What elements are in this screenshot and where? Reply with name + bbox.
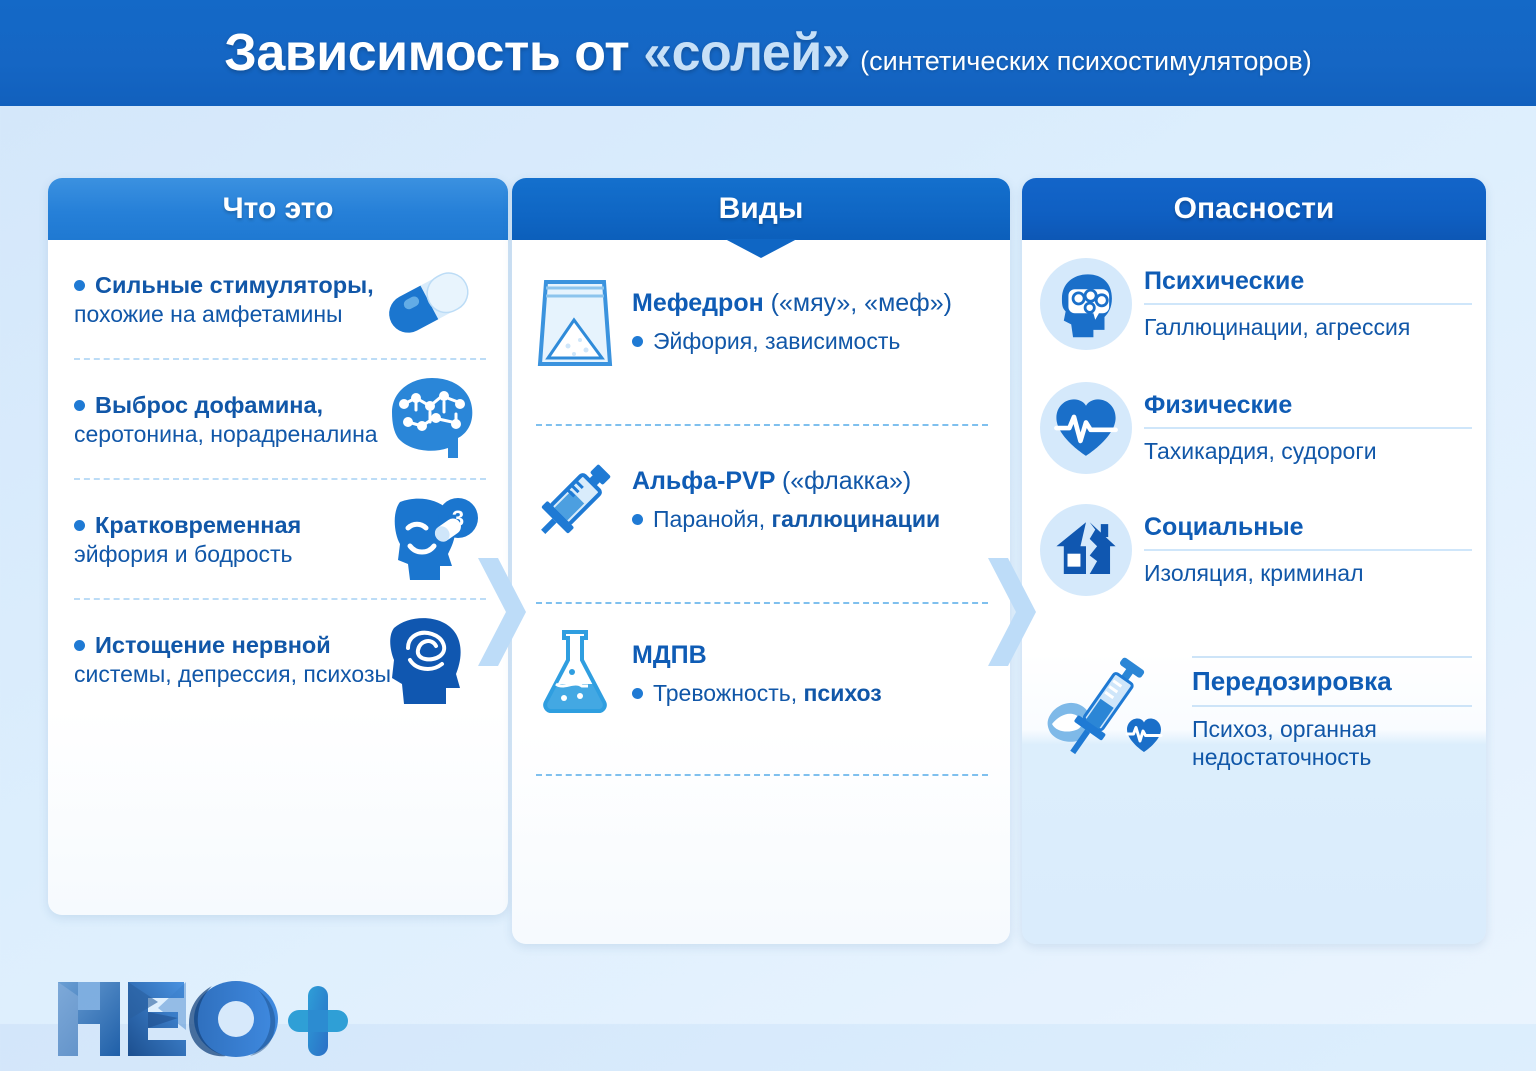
- page-title-subtitle: (синтетических психостимуляторов): [860, 46, 1312, 77]
- type-effect-plain: Эйфория, зависимость: [653, 328, 900, 354]
- syringe-powder-icon: [1032, 650, 1182, 770]
- type-effects: Тревожность, психоз: [632, 680, 882, 708]
- type-alias: («флакка»): [782, 467, 911, 495]
- bullet-dot-icon: [632, 688, 643, 699]
- type-effect-bold: галлюцинации: [771, 506, 940, 532]
- page-title-quoted: «солей»: [643, 23, 850, 83]
- divider: [1192, 656, 1472, 658]
- list-item[interactable]: Психические Галлюцинации, агрессия: [1022, 240, 1486, 360]
- brain-network-icon: [364, 364, 492, 476]
- type-name-row: Альфа-PVP («флакка»): [632, 466, 940, 496]
- neo-plus-logo[interactable]: [52, 972, 352, 1066]
- flow-arrow-what-to-types: [478, 552, 534, 672]
- column-what-is-it: Что это Сильные стимуляторы, похожие на …: [48, 178, 508, 915]
- column-types: Виды Мефедрон («мяу», «меф»): [512, 178, 1010, 944]
- overdose-block[interactable]: Передозировка Психоз, органная недостато…: [1022, 630, 1486, 791]
- overdose-text: Передозировка Психоз, органная недостато…: [1192, 648, 1472, 771]
- bullet-dot-icon: [74, 400, 85, 411]
- bullet-line-primary: Кратковременная: [74, 510, 301, 540]
- bullet-line-primary: Сильные стимуляторы,: [74, 270, 374, 300]
- danger-title: Социальные: [1144, 513, 1472, 542]
- overdose-sub: Психоз, органная недостаточность: [1192, 715, 1472, 771]
- divider: [1192, 705, 1472, 707]
- list-item-text: Сильные стимуляторы, похожие на амфетами…: [74, 270, 374, 330]
- list-item-text: Физические Тахикардия, судороги: [1144, 391, 1472, 465]
- column-dangers: Опасности Психические Галлюц: [1022, 178, 1486, 944]
- column-types-body: Мефедрон («мяу», «меф») Эйфория, зависим…: [512, 240, 1010, 944]
- type-alias: («мяу», «меф»): [771, 289, 952, 317]
- list-item[interactable]: МДПВ Тревожность, психоз: [512, 604, 1010, 776]
- overdose-title: Передозировка: [1192, 666, 1472, 697]
- list-item[interactable]: Мефедрон («мяу», «меф») Эйфория, зависим…: [512, 240, 1010, 426]
- list-item-text: Кратковременная эйфория и бодрость: [74, 510, 301, 570]
- bullet-line-primary: Выброс дофамина,: [74, 390, 378, 420]
- overdose-icons: [1032, 650, 1182, 770]
- overdose-sub-line2: недостаточность: [1192, 744, 1371, 770]
- list-item-text: Альфа-PVP («флакка») Паранойя, галлюцина…: [632, 452, 940, 534]
- flow-arrow-types-to-dangers: [988, 552, 1044, 672]
- divider: [1144, 303, 1472, 305]
- list-item-text: Истощение нервной системы, депрессия, пс…: [74, 630, 391, 690]
- danger-title: Физические: [1144, 391, 1472, 420]
- syringe-icon: [532, 452, 618, 548]
- list-item[interactable]: Альфа-PVP («флакка») Паранойя, галлюцина…: [512, 426, 1010, 604]
- divider: [1144, 427, 1472, 429]
- list-item-line1: Сильные стимуляторы,: [95, 272, 374, 298]
- type-effects: Паранойя, галлюцинации: [632, 506, 940, 534]
- list-item[interactable]: Сильные стимуляторы, похожие на амфетами…: [48, 240, 508, 360]
- capsule-pill-icon: [364, 244, 492, 356]
- column-what-heading: Что это: [48, 178, 508, 240]
- bullet-dot-icon: [74, 640, 85, 651]
- page-title-main: Зависимость от: [224, 23, 629, 83]
- list-item-line2: эйфория и бодрость: [74, 540, 301, 569]
- list-item-text: Выброс дофамина, серотонина, норадренали…: [74, 390, 378, 450]
- type-effect-plain: Тревожность,: [653, 680, 804, 706]
- list-item-text: Социальные Изоляция, криминал: [1144, 513, 1472, 587]
- list-item[interactable]: Физические Тахикардия, судороги: [1022, 360, 1486, 484]
- bullet-dot-icon: [632, 336, 643, 347]
- list-item[interactable]: Кратковременная эйфория и бодрость 3: [48, 480, 508, 600]
- column-dangers-body: Психические Галлюцинации, агрессия Физич…: [1022, 240, 1486, 944]
- list-item-line2: системы, депрессия, психозы: [74, 660, 391, 689]
- list-item[interactable]: Истощение нервной системы, депрессия, пс…: [48, 600, 508, 720]
- head-thought-icon: [1040, 258, 1132, 350]
- powder-bag-icon: [532, 274, 618, 370]
- column-types-heading-label: Виды: [719, 192, 804, 226]
- list-item[interactable]: Социальные Изоляция, криминал: [1022, 484, 1486, 606]
- list-item-line2: серотонина, норадреналина: [74, 420, 378, 449]
- bullet-line-primary: Истощение нервной: [74, 630, 391, 660]
- list-item[interactable]: Выброс дофамина, серотонина, норадренали…: [48, 360, 508, 480]
- list-item-line1: Истощение нервной: [95, 632, 331, 658]
- list-item-text: Мефедрон («мяу», «меф») Эйфория, зависим…: [632, 274, 952, 356]
- heart-pulse-icon: [1040, 382, 1132, 474]
- column-types-heading: Виды: [512, 178, 1010, 240]
- list-item-text: Психические Галлюцинации, агрессия: [1144, 267, 1472, 341]
- type-name: МДПВ: [632, 641, 707, 669]
- bullet-dot-icon: [632, 514, 643, 525]
- danger-sub: Галлюцинации, агрессия: [1144, 314, 1472, 341]
- type-name: Альфа-PVP: [632, 467, 775, 495]
- danger-sub: Изоляция, криминал: [1144, 560, 1472, 587]
- page-title: Зависимость от «солей» (синтетических пс…: [224, 23, 1311, 83]
- column-what-heading-label: Что это: [223, 192, 334, 226]
- head-euphoria-icon: 3: [364, 484, 492, 596]
- type-name-row: МДПВ: [632, 640, 882, 670]
- list-item-line1: Кратковременная: [95, 512, 301, 538]
- danger-sub: Тахикардия, судороги: [1144, 438, 1472, 465]
- type-effects: Эйфория, зависимость: [632, 328, 952, 356]
- column-what-body: Сильные стимуляторы, похожие на амфетами…: [48, 240, 508, 915]
- divider: [1144, 549, 1472, 551]
- bullet-dot-icon: [74, 520, 85, 531]
- flask-icon: [532, 626, 618, 722]
- type-name-row: Мефедрон («мяу», «меф»): [632, 288, 952, 318]
- type-effect-plain: Паранойя,: [653, 506, 771, 532]
- column-dangers-heading-label: Опасности: [1174, 192, 1335, 226]
- type-name: Мефедрон: [632, 289, 764, 317]
- divider: [536, 774, 988, 776]
- list-item-line2: похожие на амфетамины: [74, 300, 374, 329]
- list-item-text: МДПВ Тревожность, психоз: [632, 626, 882, 708]
- danger-title: Психические: [1144, 267, 1472, 296]
- broken-house-icon: [1040, 504, 1132, 596]
- overdose-sub-line1: Психоз, органная: [1192, 716, 1377, 742]
- type-effect-bold: психоз: [804, 680, 882, 706]
- bullet-dot-icon: [74, 280, 85, 291]
- column-dangers-heading: Опасности: [1022, 178, 1486, 240]
- list-item-line1: Выброс дофамина,: [95, 392, 323, 418]
- infographic-board: Что это Сильные стимуляторы, похожие на …: [0, 106, 1536, 1024]
- page-header: Зависимость от «солей» (синтетических пс…: [0, 0, 1536, 106]
